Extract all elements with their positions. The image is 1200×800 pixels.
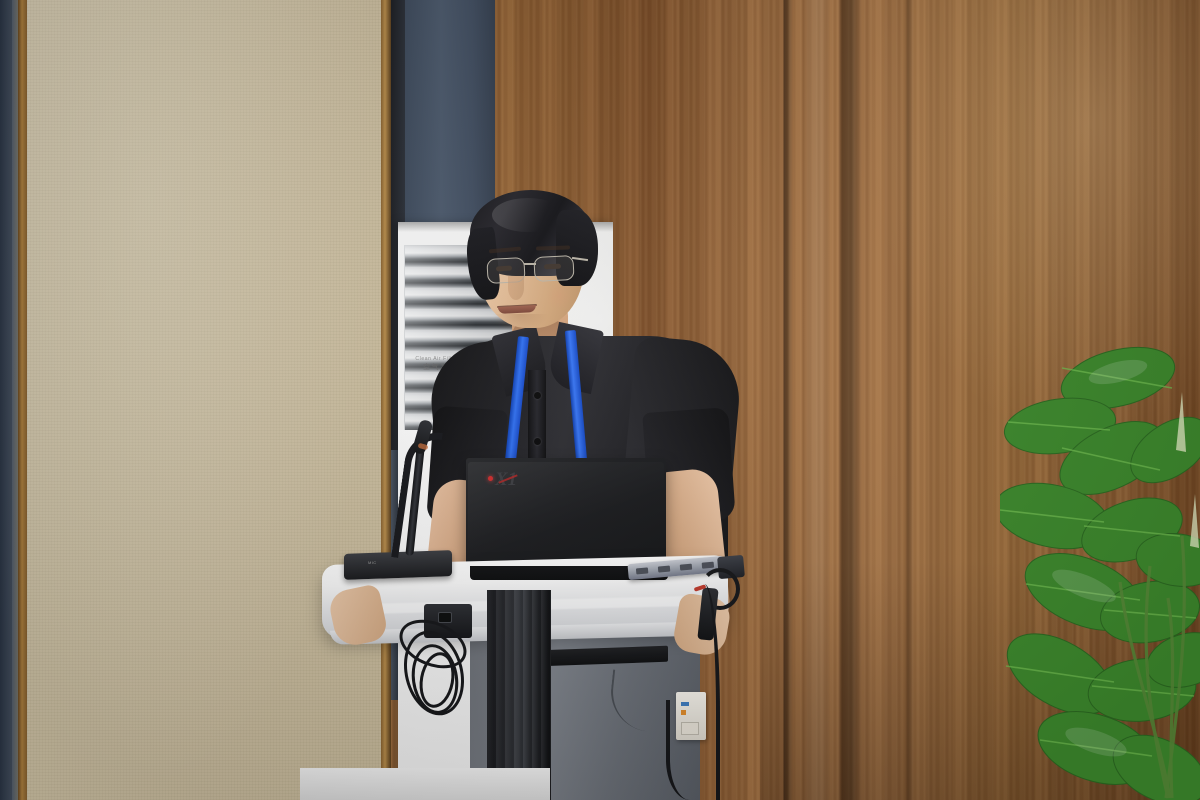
cheek-highlight (546, 282, 572, 310)
usb-port (680, 564, 692, 571)
usb-port (702, 562, 714, 569)
lectern-base-shelf (300, 768, 550, 800)
nose (508, 276, 524, 300)
chin-shadow (492, 314, 548, 332)
thinkpad-logo: X1 (487, 471, 531, 495)
eyeglass-lens-right (533, 255, 574, 282)
eyeglass-bridge (524, 263, 536, 265)
thinkpad-logo-dot (488, 476, 493, 481)
microphone-base-label: MIC (368, 560, 418, 569)
wall-trim-left (18, 0, 27, 800)
cable-floor-run (666, 700, 726, 800)
photo-scene: Clean Air Filtered 空气净化 (0, 0, 1200, 800)
wall-trim-right (381, 0, 391, 800)
beige-panel-sheen (18, 0, 390, 800)
usb-port (658, 566, 670, 573)
usb-port (636, 567, 648, 574)
shirt-button (534, 392, 541, 399)
shirt-button (534, 438, 541, 445)
hair-highlight (492, 198, 564, 232)
power-box-port (438, 612, 452, 623)
potted-plant (1000, 330, 1200, 800)
